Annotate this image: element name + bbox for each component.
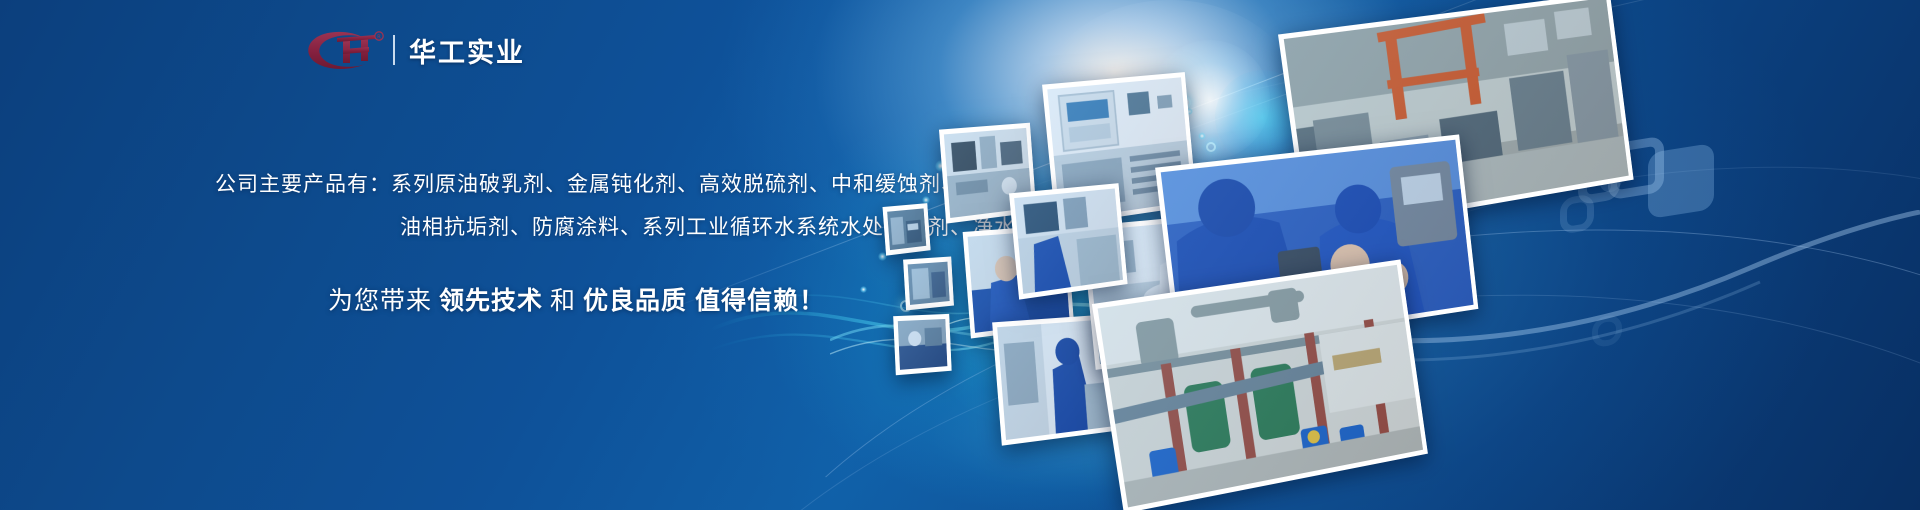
- product-description-line-1: 公司主要产品有：系列原油破乳剂、金属钝化剂、高效脱硫剂、中和缓蚀剂、: [215, 172, 963, 196]
- photo-reactor-plant: [1092, 259, 1428, 510]
- photo-collage: [860, 0, 1920, 510]
- photo-control-room: [1009, 183, 1128, 299]
- slogan-emphasis-quality: 优良品质: [583, 286, 687, 315]
- logo-company-name: 华工实业: [409, 31, 525, 70]
- logo-divider: [393, 35, 395, 65]
- photo-small-blue-lab: [893, 314, 951, 375]
- photo-far-left-thumb-2: [903, 256, 954, 310]
- svg-text:R: R: [377, 35, 381, 41]
- slogan: 为您带来领先技术和优良品质值得信赖！: [325, 281, 829, 317]
- slogan-conjunction: 和: [550, 286, 576, 315]
- company-logo[interactable]: R 华工实业: [303, 27, 525, 73]
- company-hero-banner: R 华工实业 公司主要产品有：系列原油破乳剂、金属钝化剂、高效脱硫剂、中和缓蚀剂…: [0, 0, 1920, 510]
- slogan-emphasis-technology: 领先技术: [439, 286, 543, 315]
- slogan-prefix: 为您带来: [328, 286, 432, 315]
- slogan-emphasis-trust: 值得信赖！: [695, 286, 825, 315]
- photo-far-left-thumb: [883, 203, 931, 256]
- ch-monogram-icon: R: [303, 27, 389, 73]
